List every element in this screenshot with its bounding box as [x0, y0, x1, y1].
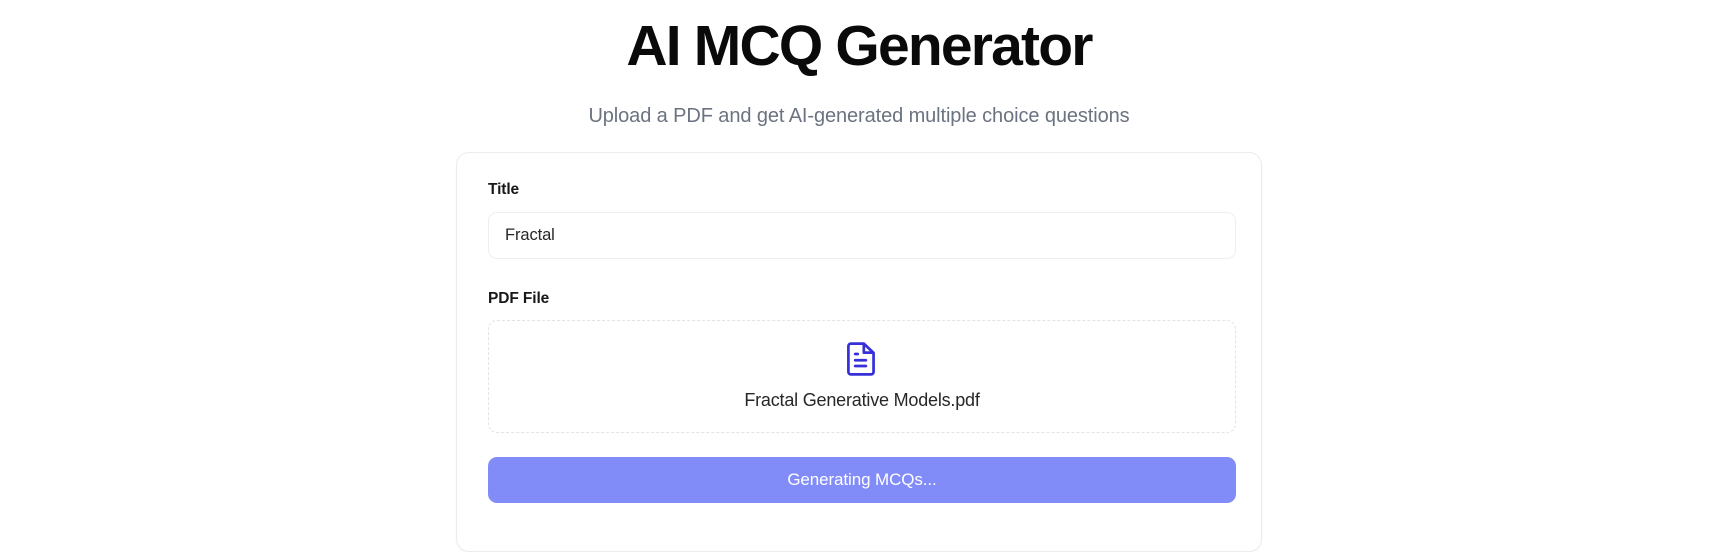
title-input[interactable]: [488, 212, 1236, 259]
submit-spacer: [488, 433, 1230, 457]
field-spacer: [488, 259, 1230, 290]
title-field-label: Title: [488, 181, 1230, 200]
pdf-field-group: PDF File Fractal Generative Models.pdf: [488, 290, 1230, 434]
pdf-document-icon: [847, 342, 877, 376]
page-header: AI MCQ Generator Upload a PDF and get AI…: [0, 0, 1718, 129]
pdf-field-label: PDF File: [488, 290, 1230, 309]
page-subtitle: Upload a PDF and get AI-generated multip…: [0, 103, 1718, 129]
generate-mcqs-button[interactable]: Generating MCQs...: [488, 457, 1236, 503]
form-body: Title PDF File Fr: [457, 153, 1261, 534]
upload-form-card: Title PDF File Fr: [456, 152, 1262, 552]
title-field-group: Title: [488, 181, 1230, 259]
uploaded-filename: Fractal Generative Models.pdf: [744, 390, 979, 412]
app-root: AI MCQ Generator Upload a PDF and get AI…: [0, 0, 1718, 542]
pdf-dropzone[interactable]: Fractal Generative Models.pdf: [488, 320, 1236, 433]
page-title: AI MCQ Generator: [0, 14, 1718, 80]
